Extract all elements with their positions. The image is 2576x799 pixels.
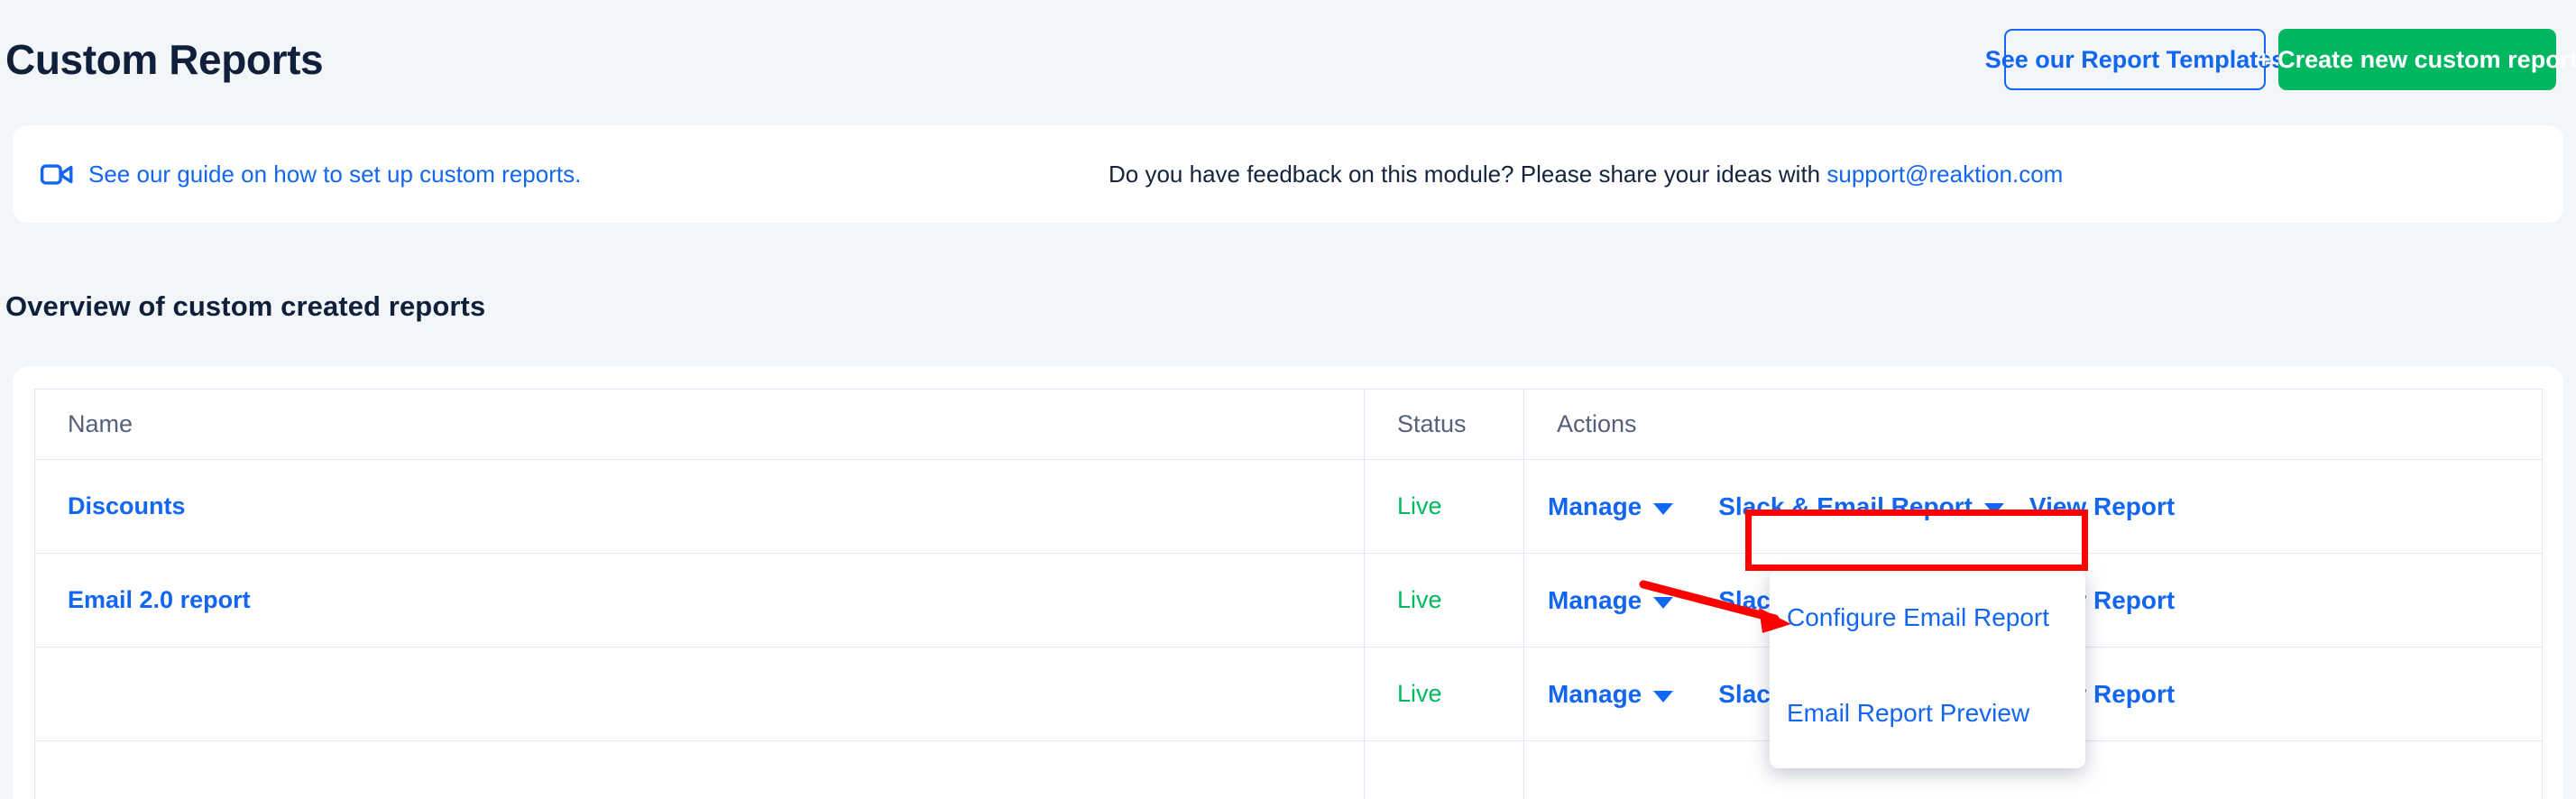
slack-email-label: Slack & Email Report (1718, 492, 1973, 521)
chevron-down-icon (1653, 597, 1673, 609)
menu-item-configure-email-report[interactable]: Configure Email Report (1770, 593, 2085, 642)
report-name-link[interactable]: Email 2.0 report (68, 586, 251, 613)
guide-link-group[interactable]: See our guide on how to set up custom re… (13, 157, 581, 192)
table-header: Name Status Actions (35, 390, 2543, 460)
view-report-link[interactable]: View Report (2029, 492, 2175, 521)
column-header-status: Status (1365, 390, 1524, 460)
table-header-row: Name Status Actions (35, 390, 2543, 460)
manage-dropdown-button[interactable]: Manage (1548, 680, 1673, 709)
support-email-link[interactable]: support@reaktion.com (1826, 161, 2063, 188)
table-body: Discounts Live Manage Slack & Email Repo… (35, 460, 2543, 799)
cell-status: Live (1365, 460, 1524, 554)
see-report-templates-button[interactable]: See our Report Templates (2004, 29, 2266, 90)
status-badge: Live (1397, 680, 1442, 707)
table-row: Email 2.0 report Live Manage Slack & Ema… (35, 554, 2543, 647)
column-header-name: Name (35, 390, 1365, 460)
manage-dropdown-button[interactable]: Manage (1548, 586, 1673, 615)
manage-label: Manage (1548, 680, 1642, 709)
guide-link-text[interactable]: See our guide on how to set up custom re… (88, 161, 581, 188)
feedback-text: Do you have feedback on this module? Ple… (1109, 161, 2063, 188)
slack-email-report-dropdown-button[interactable]: Slack & Email Report (1718, 492, 2004, 521)
reports-table-card: Name Status Actions Discounts Live Manag… (13, 366, 2563, 799)
cell-status: Live (1365, 647, 1524, 741)
manage-label: Manage (1548, 492, 1642, 521)
status-badge: Live (1397, 586, 1442, 613)
custom-reports-table: Name Status Actions Discounts Live Manag… (34, 389, 2543, 799)
guide-feedback-bar: See our guide on how to set up custom re… (13, 125, 2563, 223)
cell-report-name (35, 741, 1365, 799)
table-row: Discounts Live Manage Slack & Email Repo… (35, 460, 2543, 554)
menu-item-email-report-preview[interactable]: Email Report Preview (1770, 689, 2085, 738)
cell-report-name: Discounts (35, 460, 1365, 554)
table-row (35, 741, 2543, 799)
column-header-actions: Actions (1524, 390, 2543, 460)
report-name-link[interactable]: Discounts (68, 492, 186, 519)
slack-email-report-dropdown-menu: Configure Email Report Email Report Prev… (1770, 570, 2085, 768)
header-actions: See our Report Templates + Create new cu… (2004, 29, 2556, 90)
cell-report-name: Email 2.0 report (35, 554, 1365, 647)
feedback-prefix: Do you have feedback on this module? Ple… (1109, 161, 1826, 188)
page-title: Custom Reports (5, 35, 323, 84)
manage-dropdown-button[interactable]: Manage (1548, 492, 1673, 521)
page-header: Custom Reports See our Report Templates … (0, 0, 2576, 119)
manage-label: Manage (1548, 586, 1642, 615)
overview-heading: Overview of custom created reports (5, 290, 485, 323)
cell-status (1365, 741, 1524, 799)
cell-actions: Manage Slack & Email Report View Report (1524, 460, 2543, 554)
chevron-down-icon (1653, 691, 1673, 703)
chevron-down-icon (1984, 503, 2004, 515)
cell-status: Live (1365, 554, 1524, 647)
video-camera-icon (40, 157, 75, 192)
cell-report-name (35, 647, 1365, 741)
chevron-down-icon (1653, 503, 1673, 515)
table-row: Live Manage Slack & Email Report (35, 647, 2543, 741)
create-new-custom-report-button[interactable]: + Create new custom report (2278, 29, 2556, 90)
status-badge: Live (1397, 492, 1442, 519)
